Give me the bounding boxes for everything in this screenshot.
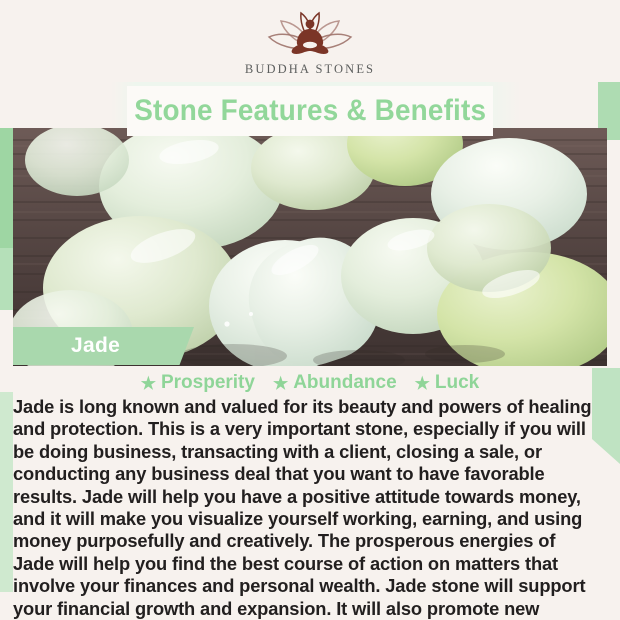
stone-info-card: BUDDHA STONES Stone Features & Benefits [0, 0, 620, 620]
star-icon: ★ [273, 375, 288, 392]
benefit-label: Luck [435, 372, 479, 394]
stone-description: Jade is long known and valued for its be… [13, 396, 601, 620]
decorative-green-band-left-top [0, 128, 14, 248]
benefit-luck: ★ Luck [415, 372, 480, 394]
stone-name: Jade [13, 334, 120, 358]
page-title-banner: Stone Features & Benefits [127, 86, 493, 136]
decorative-green-rail-left [0, 392, 13, 592]
stone-name-banner: Jade [13, 327, 194, 365]
page-title: Stone Features & Benefits [134, 94, 486, 128]
star-icon: ★ [141, 375, 156, 392]
benefit-label: Abundance [293, 372, 396, 394]
brand-name: BUDDHA STONES [245, 62, 375, 77]
brand-logo-block: BUDDHA STONES [0, 10, 620, 82]
benefit-abundance: ★ Abundance [273, 372, 397, 394]
lotus-meditation-icon [256, 10, 364, 60]
benefit-prosperity: ★ Prosperity [141, 372, 255, 394]
star-icon: ★ [415, 375, 430, 392]
decorative-green-band-left-bottom [0, 248, 14, 310]
benefits-row: ★ Prosperity ★ Abundance ★ Luck [0, 370, 620, 396]
benefit-label: Prosperity [161, 372, 255, 394]
